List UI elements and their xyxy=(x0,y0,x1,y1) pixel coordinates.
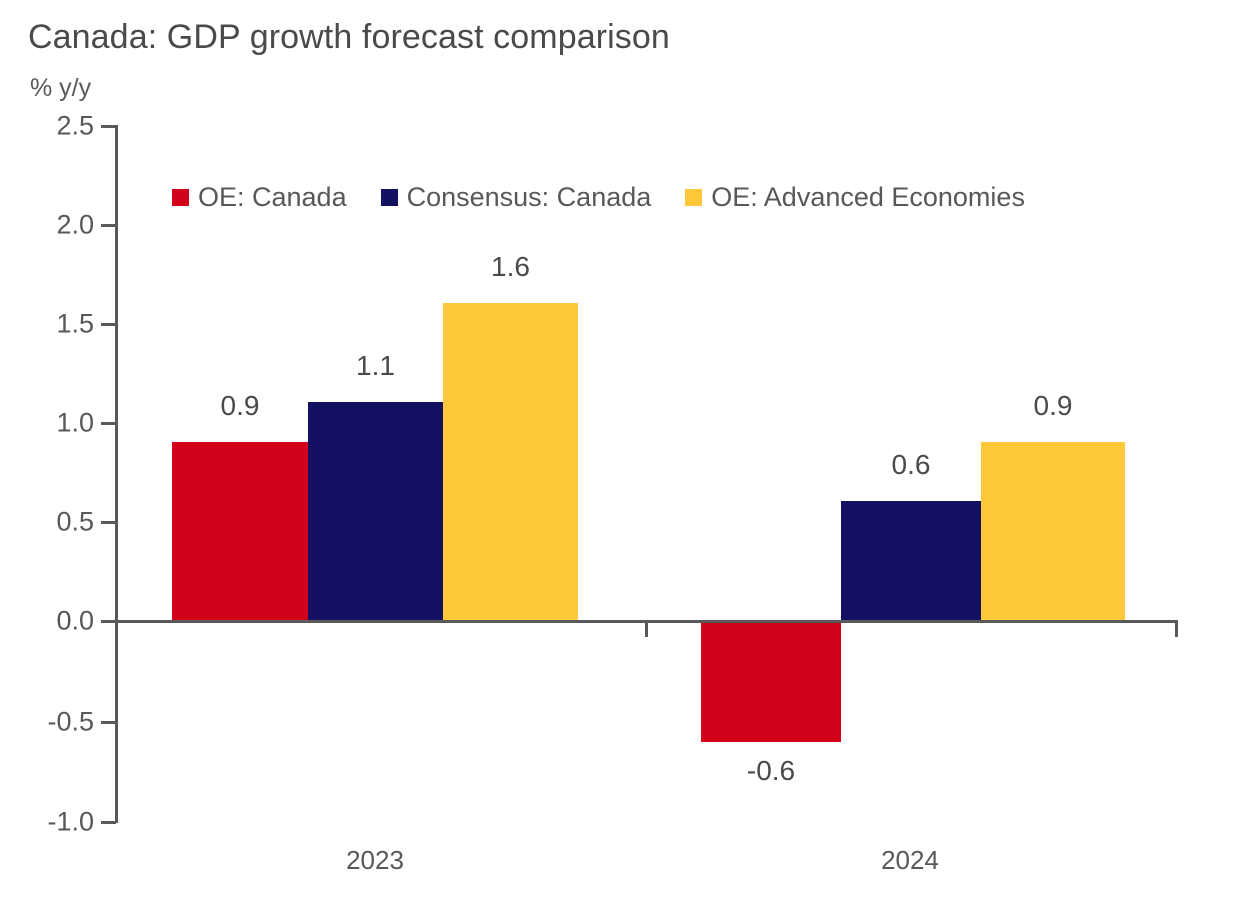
bar-value-label: -0.6 xyxy=(701,755,841,787)
y-axis-tick-label: -0.5 xyxy=(18,707,94,738)
bar-value-label: 0.9 xyxy=(172,390,308,422)
y-axis-tick-label: 1.0 xyxy=(18,408,94,439)
y-axis-tick xyxy=(101,721,116,724)
y-axis-tick xyxy=(101,422,116,425)
y-axis-tick-label: 1.5 xyxy=(18,309,94,340)
y-axis-tick-label: -1.0 xyxy=(18,807,94,838)
y-axis-tick xyxy=(101,620,116,623)
bar-2023-oe-advanced[interactable] xyxy=(443,303,578,620)
y-axis-tick xyxy=(101,521,116,524)
y-axis-tick xyxy=(101,323,116,326)
y-axis-tick-label: 2.0 xyxy=(18,210,94,241)
bar-value-label: 1.6 xyxy=(443,251,578,283)
bar-2024-oe-advanced[interactable] xyxy=(981,442,1125,620)
bar-value-label: 1.1 xyxy=(308,350,443,382)
x-axis-tick xyxy=(645,623,648,637)
bar-2023-consensus-canada[interactable] xyxy=(308,402,443,620)
y-axis-tick-label: 2.5 xyxy=(18,111,94,142)
y-axis-tick xyxy=(101,821,116,824)
y-axis-line xyxy=(115,125,118,823)
y-axis-tick xyxy=(101,125,116,128)
x-axis-tick xyxy=(1175,623,1178,637)
bar-value-label: 0.6 xyxy=(841,449,981,481)
x-axis-category-label-2024: 2024 xyxy=(845,845,975,876)
y-axis-tick xyxy=(101,224,116,227)
bar-2024-oe-canada[interactable] xyxy=(701,623,841,742)
x-axis-category-label-2023: 2023 xyxy=(310,845,440,876)
bar-2024-consensus-canada[interactable] xyxy=(841,501,981,620)
y-axis-tick-label: 0.0 xyxy=(18,606,94,637)
plot-area: 2.5 2.0 1.5 1.0 0.5 0.0 -0.5 -1.0 0.9 1.… xyxy=(0,0,1244,911)
bar-2023-oe-canada[interactable] xyxy=(172,442,308,620)
chart-canvas: Canada: GDP growth forecast comparison %… xyxy=(0,0,1244,911)
bar-value-label: 0.9 xyxy=(981,390,1125,422)
y-axis-tick-label: 0.5 xyxy=(18,507,94,538)
